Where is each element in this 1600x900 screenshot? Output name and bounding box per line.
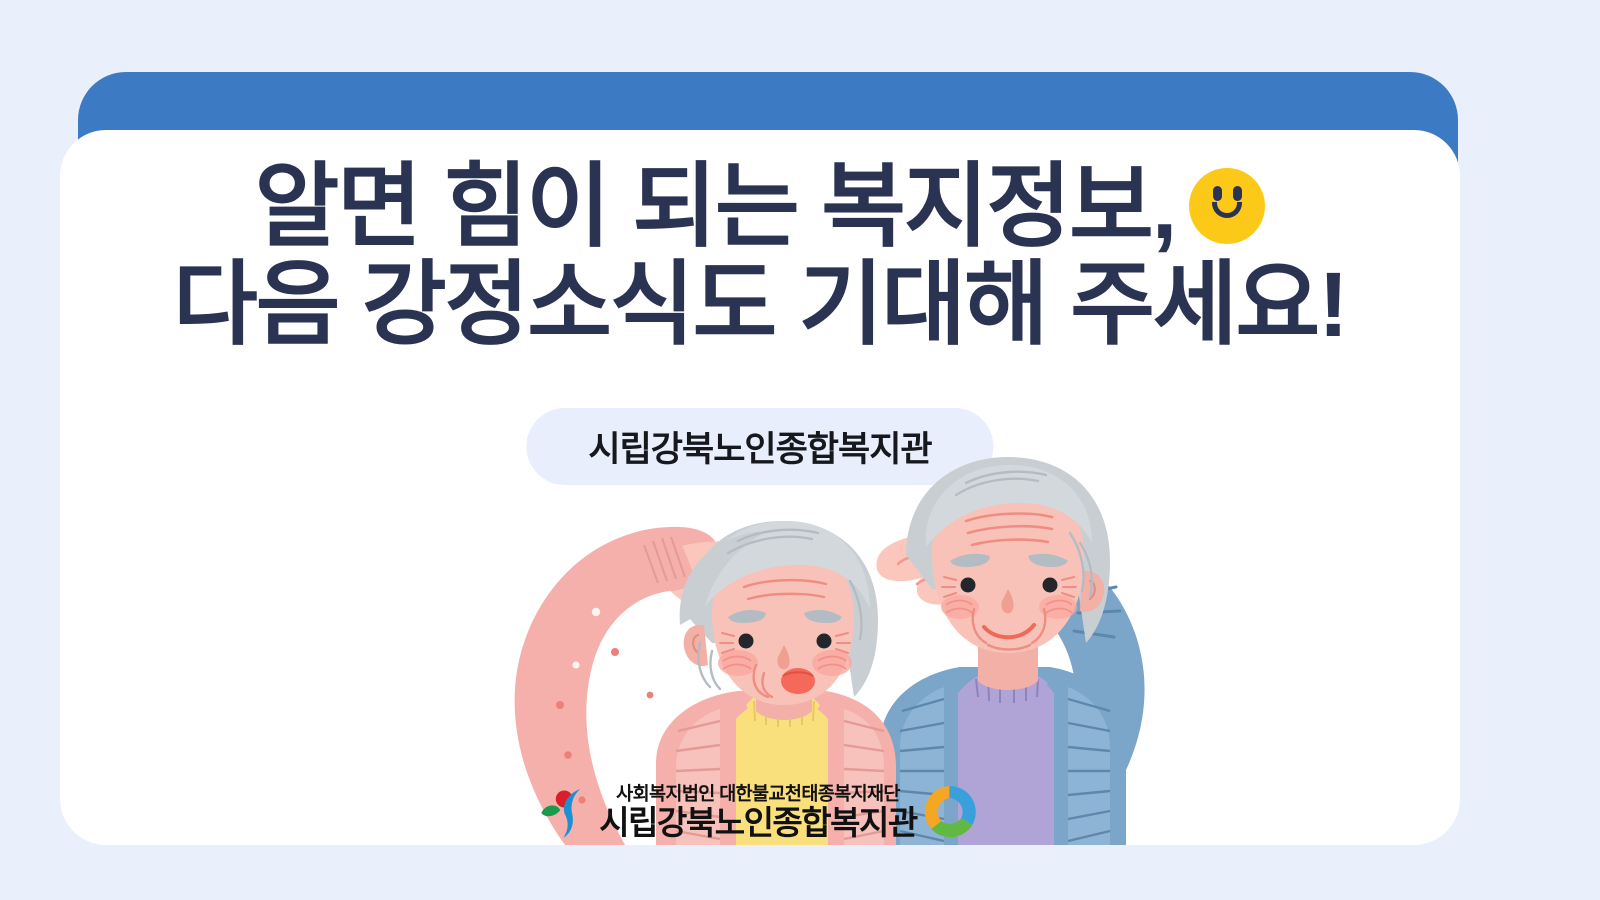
smiley-eye-right: [1233, 186, 1242, 201]
foundation-mark-icon: [539, 783, 593, 841]
mark-green-leaf: [541, 805, 560, 816]
main-card: 알면 힘이 되는 복지정보, 다음 강정소식도 기대해 주세요! 시립강북노인종…: [60, 130, 1460, 845]
smiley-eye-left: [1213, 186, 1222, 201]
footer-logo-text: 사회복지법인 대한불교천태종복지재단 시립강북노인종합복지관: [599, 785, 916, 840]
woman-eye-right: [817, 634, 832, 649]
headline-line-2: 다음 강정소식도 기대해 주세요!: [60, 256, 1460, 354]
foundation-name: 사회복지법인 대한불교천태종복지재단: [616, 785, 900, 804]
footer-logo-lockup: 사회복지법인 대한불교천태종복지재단 시립강북노인종합복지관: [539, 781, 980, 843]
woman-ear: [684, 625, 708, 666]
tricolor-ring-icon: [919, 781, 981, 843]
woman-cheek-right: [812, 650, 852, 676]
smiley-mouth: [1212, 202, 1242, 218]
ring-orange-arc: [925, 786, 949, 829]
headline: 알면 힘이 되는 복지정보, 다음 강정소식도 기대해 주세요!: [60, 158, 1460, 355]
headline-line-1-text: 알면 힘이 되는 복지정보,: [255, 156, 1176, 258]
poster-stage: 알면 힘이 되는 복지정보, 다음 강정소식도 기대해 주세요! 시립강북노인종…: [0, 0, 1600, 900]
elderly-couple-illustration: [60, 375, 1460, 845]
headline-line-1: 알면 힘이 되는 복지정보,: [60, 158, 1460, 256]
center-name: 시립강북노인종합복지관: [599, 806, 916, 839]
smiley-face-icon: [1189, 168, 1265, 244]
man-eye-left: [961, 578, 976, 593]
woman-cheek-left: [718, 650, 758, 676]
woman-eye-left: [739, 634, 754, 649]
man-eye-right: [1043, 578, 1058, 593]
